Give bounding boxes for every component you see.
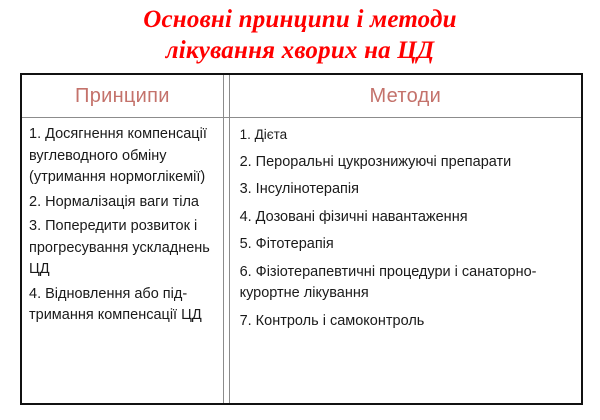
slide-title-line-1: Основні принципи і методи	[0, 4, 600, 35]
column-body-principles: 1. Досягнення компенсації вуглеводного о…	[22, 118, 223, 327]
column-header-methods: Методи	[230, 75, 581, 118]
column-body-methods: 1. Дієта 2. Пероральні цукрознижуючі пре…	[230, 118, 581, 332]
list-item: 1. Досягнення компенсації вуглеводного о…	[29, 124, 219, 189]
column-header-principles: Принципи	[22, 75, 223, 118]
list-item: 4. Відновлення або під-тримання компенса…	[29, 284, 219, 327]
list-item: 1. Дієта	[240, 124, 576, 146]
table-inner: Принципи 1. Досягнення компенсації вугле…	[22, 75, 581, 403]
list-item: 7. Контроль і самоконтроль	[240, 311, 576, 333]
list-item: 4. Дозовані фізичні навантаження	[240, 207, 576, 229]
list-item: 3. Попередити розвиток і прогресування у…	[29, 216, 219, 281]
principles-methods-table: Принципи 1. Досягнення компенсації вугле…	[20, 73, 583, 405]
list-item: 6. Фізіотерапевтичні процедури і санатор…	[240, 262, 576, 305]
list-item: 2. Пероральні цукрознижуючі препарати	[240, 152, 576, 174]
table-column-principles: Принципи 1. Досягнення компенсації вугле…	[22, 75, 223, 403]
slide-title-line-2: лікування хворих на ЦД	[0, 35, 600, 66]
list-item: 5. Фітотерапія	[240, 234, 576, 256]
column-divider-header	[224, 75, 229, 118]
table-column-methods: Методи 1. Дієта 2. Пероральні цукрознижу…	[230, 75, 581, 403]
list-item: 3. Інсулінотерапія	[240, 179, 576, 201]
table-column-divider	[223, 75, 230, 403]
slide-title: Основні принципи і методи лікування хвор…	[0, 4, 600, 66]
list-item: 2. Нормалізація ваги тіла	[29, 192, 219, 214]
slide-canvas: Основні принципи і методи лікування хвор…	[0, 0, 600, 420]
